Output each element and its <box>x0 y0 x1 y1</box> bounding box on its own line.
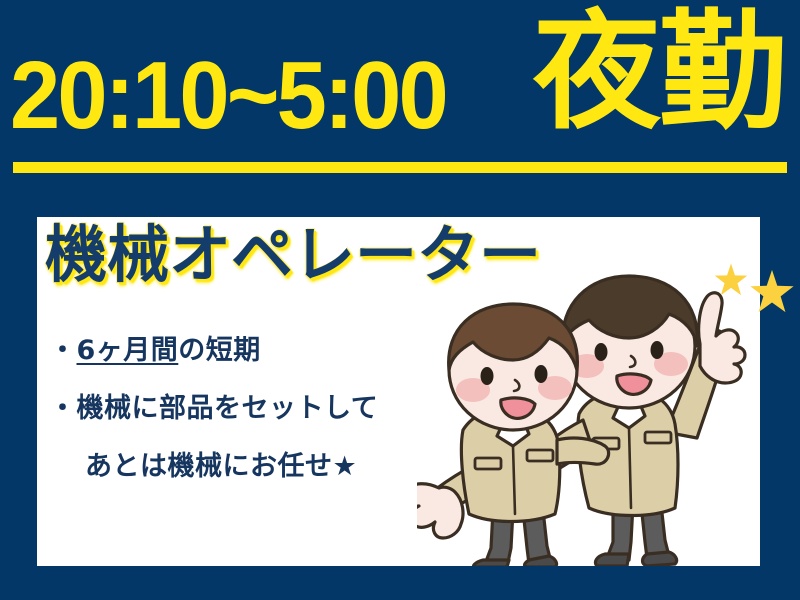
bullet-text: の短期 <box>178 335 261 366</box>
header-divider-rule <box>13 162 787 173</box>
bullet-marker: ・ <box>49 335 77 366</box>
list-item: ・機械に部品をセットして <box>49 395 378 422</box>
content-card: 機械オペレーター ・6ヶ月間の短期 ・機械に部品をセットして あとは機械にお任せ… <box>37 217 760 566</box>
bullet-marker: ・ <box>49 393 77 424</box>
header-band: 20:10~5:00 夜勤 <box>0 0 800 200</box>
front-worker <box>417 304 609 566</box>
bullet-text: 機械に部品をセットして <box>77 393 379 424</box>
shift-time-text: 20:10~5:00 <box>10 48 446 144</box>
job-ad-poster: 20:10~5:00 夜勤 機械オペレーター ・6ヶ月間の短期 ・機械に部品をセ… <box>0 0 800 600</box>
list-item: ・6ヶ月間の短期 <box>49 337 378 364</box>
job-detail-list: ・6ヶ月間の短期 ・機械に部品をセットして あとは機械にお任せ★ <box>49 337 378 511</box>
job-title: 機械オペレーター <box>45 224 541 286</box>
star-large-icon <box>748 268 796 316</box>
shift-type-label: 夜勤 <box>533 6 785 140</box>
bullet-emphasis: 6ヶ月間 <box>77 335 179 366</box>
star-small-icon <box>713 262 749 298</box>
bullet-text: あとは機械にお任せ★ <box>85 451 357 482</box>
list-item: あとは機械にお任せ★ <box>49 453 378 480</box>
back-worker <box>520 276 745 566</box>
